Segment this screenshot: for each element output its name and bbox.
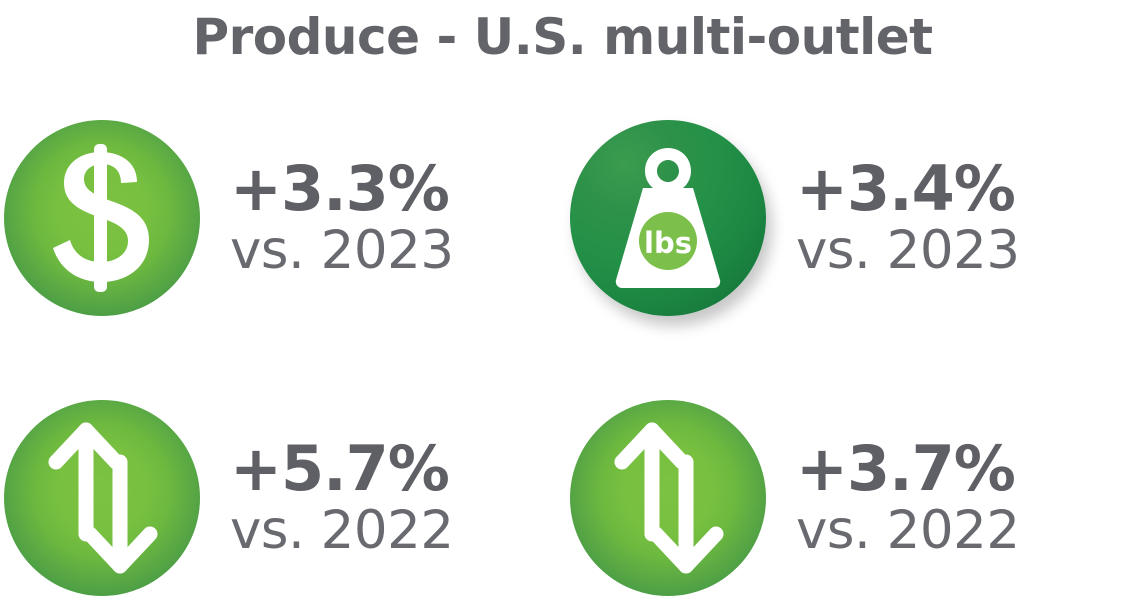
stat-card-volume-lbs-vs-2023: lbs +3.4% vs. 2023 xyxy=(570,120,1020,316)
stat-comparison: vs. 2022 xyxy=(796,502,1020,559)
lbs-label: lbs xyxy=(644,226,692,260)
stat-figures: +3.7% vs. 2022 xyxy=(796,437,1020,559)
stat-card-volume-lbs-vs-2022: +3.7% vs. 2022 xyxy=(570,400,1020,596)
stat-value: +3.3% xyxy=(230,157,454,220)
stat-comparison: vs. 2023 xyxy=(230,222,454,279)
stat-card-dollar-sales-vs-2022: +5.7% vs. 2022 xyxy=(4,400,454,596)
page-title: Produce - U.S. multi-outlet xyxy=(0,8,1125,66)
stat-figures: +5.7% vs. 2022 xyxy=(230,437,454,559)
stat-figures: +3.4% vs. 2023 xyxy=(796,157,1020,279)
stat-comparison: vs. 2023 xyxy=(796,222,1020,279)
weight-lbs-icon: lbs xyxy=(570,120,766,316)
up-down-arrows-icon xyxy=(4,400,200,596)
stat-comparison: vs. 2022 xyxy=(230,502,454,559)
stats-grid: +3.3% vs. 2023 lbs +3.4% vs. 2023 xyxy=(0,120,1125,609)
stat-figures: +3.3% vs. 2023 xyxy=(230,157,454,279)
stat-card-dollar-sales-vs-2023: +3.3% vs. 2023 xyxy=(4,120,454,316)
up-down-arrows-icon xyxy=(570,400,766,596)
stat-value: +3.7% xyxy=(796,437,1020,500)
dollar-sign-icon xyxy=(4,120,200,316)
stat-value: +5.7% xyxy=(230,437,454,500)
stat-value: +3.4% xyxy=(796,157,1020,220)
